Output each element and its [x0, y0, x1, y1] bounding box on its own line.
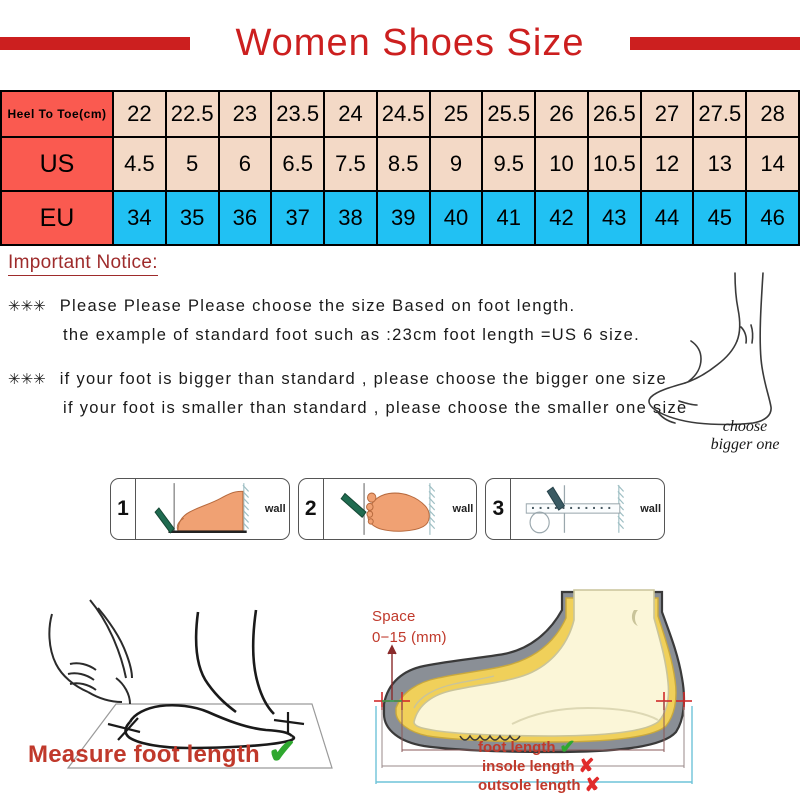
cell-cm-10: 27 [641, 91, 694, 137]
step-3-wall-label: wall [640, 503, 661, 515]
legend-insole-length: insole length ✘ [478, 757, 738, 776]
cell-us-3: 6.5 [271, 137, 324, 191]
step-1-number: 1 [111, 479, 136, 539]
legend-foot-length-label: foot length [478, 739, 555, 757]
space-label-line1: Space [372, 608, 416, 625]
row-label-eu: EU [1, 191, 113, 245]
legend-foot-length: foot length ✔ [478, 738, 738, 757]
notice-paragraph-1: ✳✳✳Please Please Please choose the size … [8, 292, 708, 349]
cross-icon: ✘ [585, 776, 601, 795]
cell-eu-7: 41 [482, 191, 535, 245]
green-check-icon: ✔ [268, 735, 297, 769]
step-2-number: 2 [299, 479, 324, 539]
length-legend: foot length ✔ insole length ✘ outsole le… [478, 738, 738, 795]
cell-cm-4: 24 [324, 91, 377, 137]
cell-cm-9: 26.5 [588, 91, 641, 137]
cell-us-10: 12 [641, 137, 694, 191]
step-1-wall-label: wall [265, 503, 286, 515]
legend-outsole-length-label: outsole length [478, 777, 581, 795]
check-icon: ✔ [559, 738, 575, 757]
cell-cm-11: 27.5 [693, 91, 746, 137]
cross-icon: ✘ [579, 757, 595, 776]
cell-us-1: 5 [166, 137, 219, 191]
table-row-eu: EU 34 35 36 37 38 39 40 41 42 43 44 45 4… [1, 191, 799, 245]
cell-cm-7: 25.5 [482, 91, 535, 137]
cell-eu-6: 40 [430, 191, 483, 245]
row-label-heel-to-toe: Heel To Toe(cm) [1, 91, 113, 137]
step-2: 2 wall [298, 478, 478, 540]
cell-cm-3: 23.5 [271, 91, 324, 137]
legend-insole-length-label: insole length [482, 758, 575, 776]
cell-eu-3: 37 [271, 191, 324, 245]
step-2-wall-label: wall [453, 503, 474, 515]
cell-us-2: 6 [219, 137, 272, 191]
cell-eu-10: 44 [641, 191, 694, 245]
cell-us-6: 9 [430, 137, 483, 191]
cell-eu-2: 36 [219, 191, 272, 245]
cell-eu-0: 34 [113, 191, 166, 245]
cell-us-7: 9.5 [482, 137, 535, 191]
title-rule-right [630, 37, 800, 50]
cell-eu-9: 43 [588, 191, 641, 245]
space-gap-label: Space 0−15 (mm) [372, 606, 447, 648]
notice-line-3-text: if your foot is bigger than standard , p… [60, 370, 667, 388]
measurement-steps: 1 wall 2 [110, 478, 665, 540]
notice-heading: Important Notice: [8, 252, 158, 276]
cell-eu-8: 42 [535, 191, 588, 245]
choose-caption-line1: choose [723, 418, 767, 435]
cell-us-0: 4.5 [113, 137, 166, 191]
notice-paragraph-2: ✳✳✳if your foot is bigger than standard … [8, 365, 708, 422]
step-1-illustration: wall [136, 479, 289, 539]
cell-cm-12: 28 [746, 91, 799, 137]
notice-line-4: if your foot is smaller than standard , … [8, 394, 708, 422]
legend-outsole-length: outsole length ✘ [478, 776, 738, 795]
size-chart-table: Heel To Toe(cm) 22 22.5 23 23.5 24 24.5 … [0, 90, 800, 246]
notice-line-3: ✳✳✳if your foot is bigger than standard … [8, 365, 708, 394]
cell-cm-2: 23 [219, 91, 272, 137]
table-row-heel-to-toe: Heel To Toe(cm) 22 22.5 23 23.5 24 24.5 … [1, 91, 799, 137]
cell-cm-6: 25 [430, 91, 483, 137]
row-label-us: US [1, 137, 113, 191]
page-title: Women Shoes Size [190, 22, 630, 65]
title-rule-left [0, 37, 190, 50]
step-3: 3 [485, 478, 665, 540]
cell-eu-12: 46 [746, 191, 799, 245]
important-notice-section: Important Notice: ✳✳✳Please Please Pleas… [8, 252, 708, 422]
cell-cm-8: 26 [535, 91, 588, 137]
cell-cm-0: 22 [113, 91, 166, 137]
step-1: 1 wall [110, 478, 290, 540]
cell-eu-11: 45 [693, 191, 746, 245]
asterisk-icon: ✳✳✳ [8, 298, 46, 315]
asterisk-icon: ✳✳✳ [8, 371, 46, 388]
page-title-row: Women Shoes Size [0, 18, 800, 68]
cell-us-9: 10.5 [588, 137, 641, 191]
cell-eu-4: 38 [324, 191, 377, 245]
cell-us-11: 13 [693, 137, 746, 191]
cell-cm-5: 24.5 [377, 91, 430, 137]
step-2-illustration: wall [324, 479, 477, 539]
notice-line-1: ✳✳✳Please Please Please choose the size … [8, 292, 708, 321]
step-3-number: 3 [486, 479, 511, 539]
cell-eu-1: 35 [166, 191, 219, 245]
notice-line-1-text: Please Please Please choose the size Bas… [60, 297, 576, 315]
cell-us-5: 8.5 [377, 137, 430, 191]
measure-foot-caption: Measure foot length [28, 741, 260, 769]
step-3-illustration: wall [511, 479, 664, 539]
cell-us-12: 14 [746, 137, 799, 191]
choose-caption-line2: bigger one [711, 436, 780, 453]
space-label-line2: 0−15 (mm) [372, 629, 447, 646]
notice-line-2: the example of standard foot such as :23… [8, 321, 708, 349]
cell-eu-5: 39 [377, 191, 430, 245]
choose-bigger-one-caption: choose bigger one [690, 418, 800, 454]
cell-cm-1: 22.5 [166, 91, 219, 137]
cell-us-4: 7.5 [324, 137, 377, 191]
cell-us-8: 10 [535, 137, 588, 191]
table-row-us: US 4.5 5 6 6.5 7.5 8.5 9 9.5 10 10.5 12 … [1, 137, 799, 191]
